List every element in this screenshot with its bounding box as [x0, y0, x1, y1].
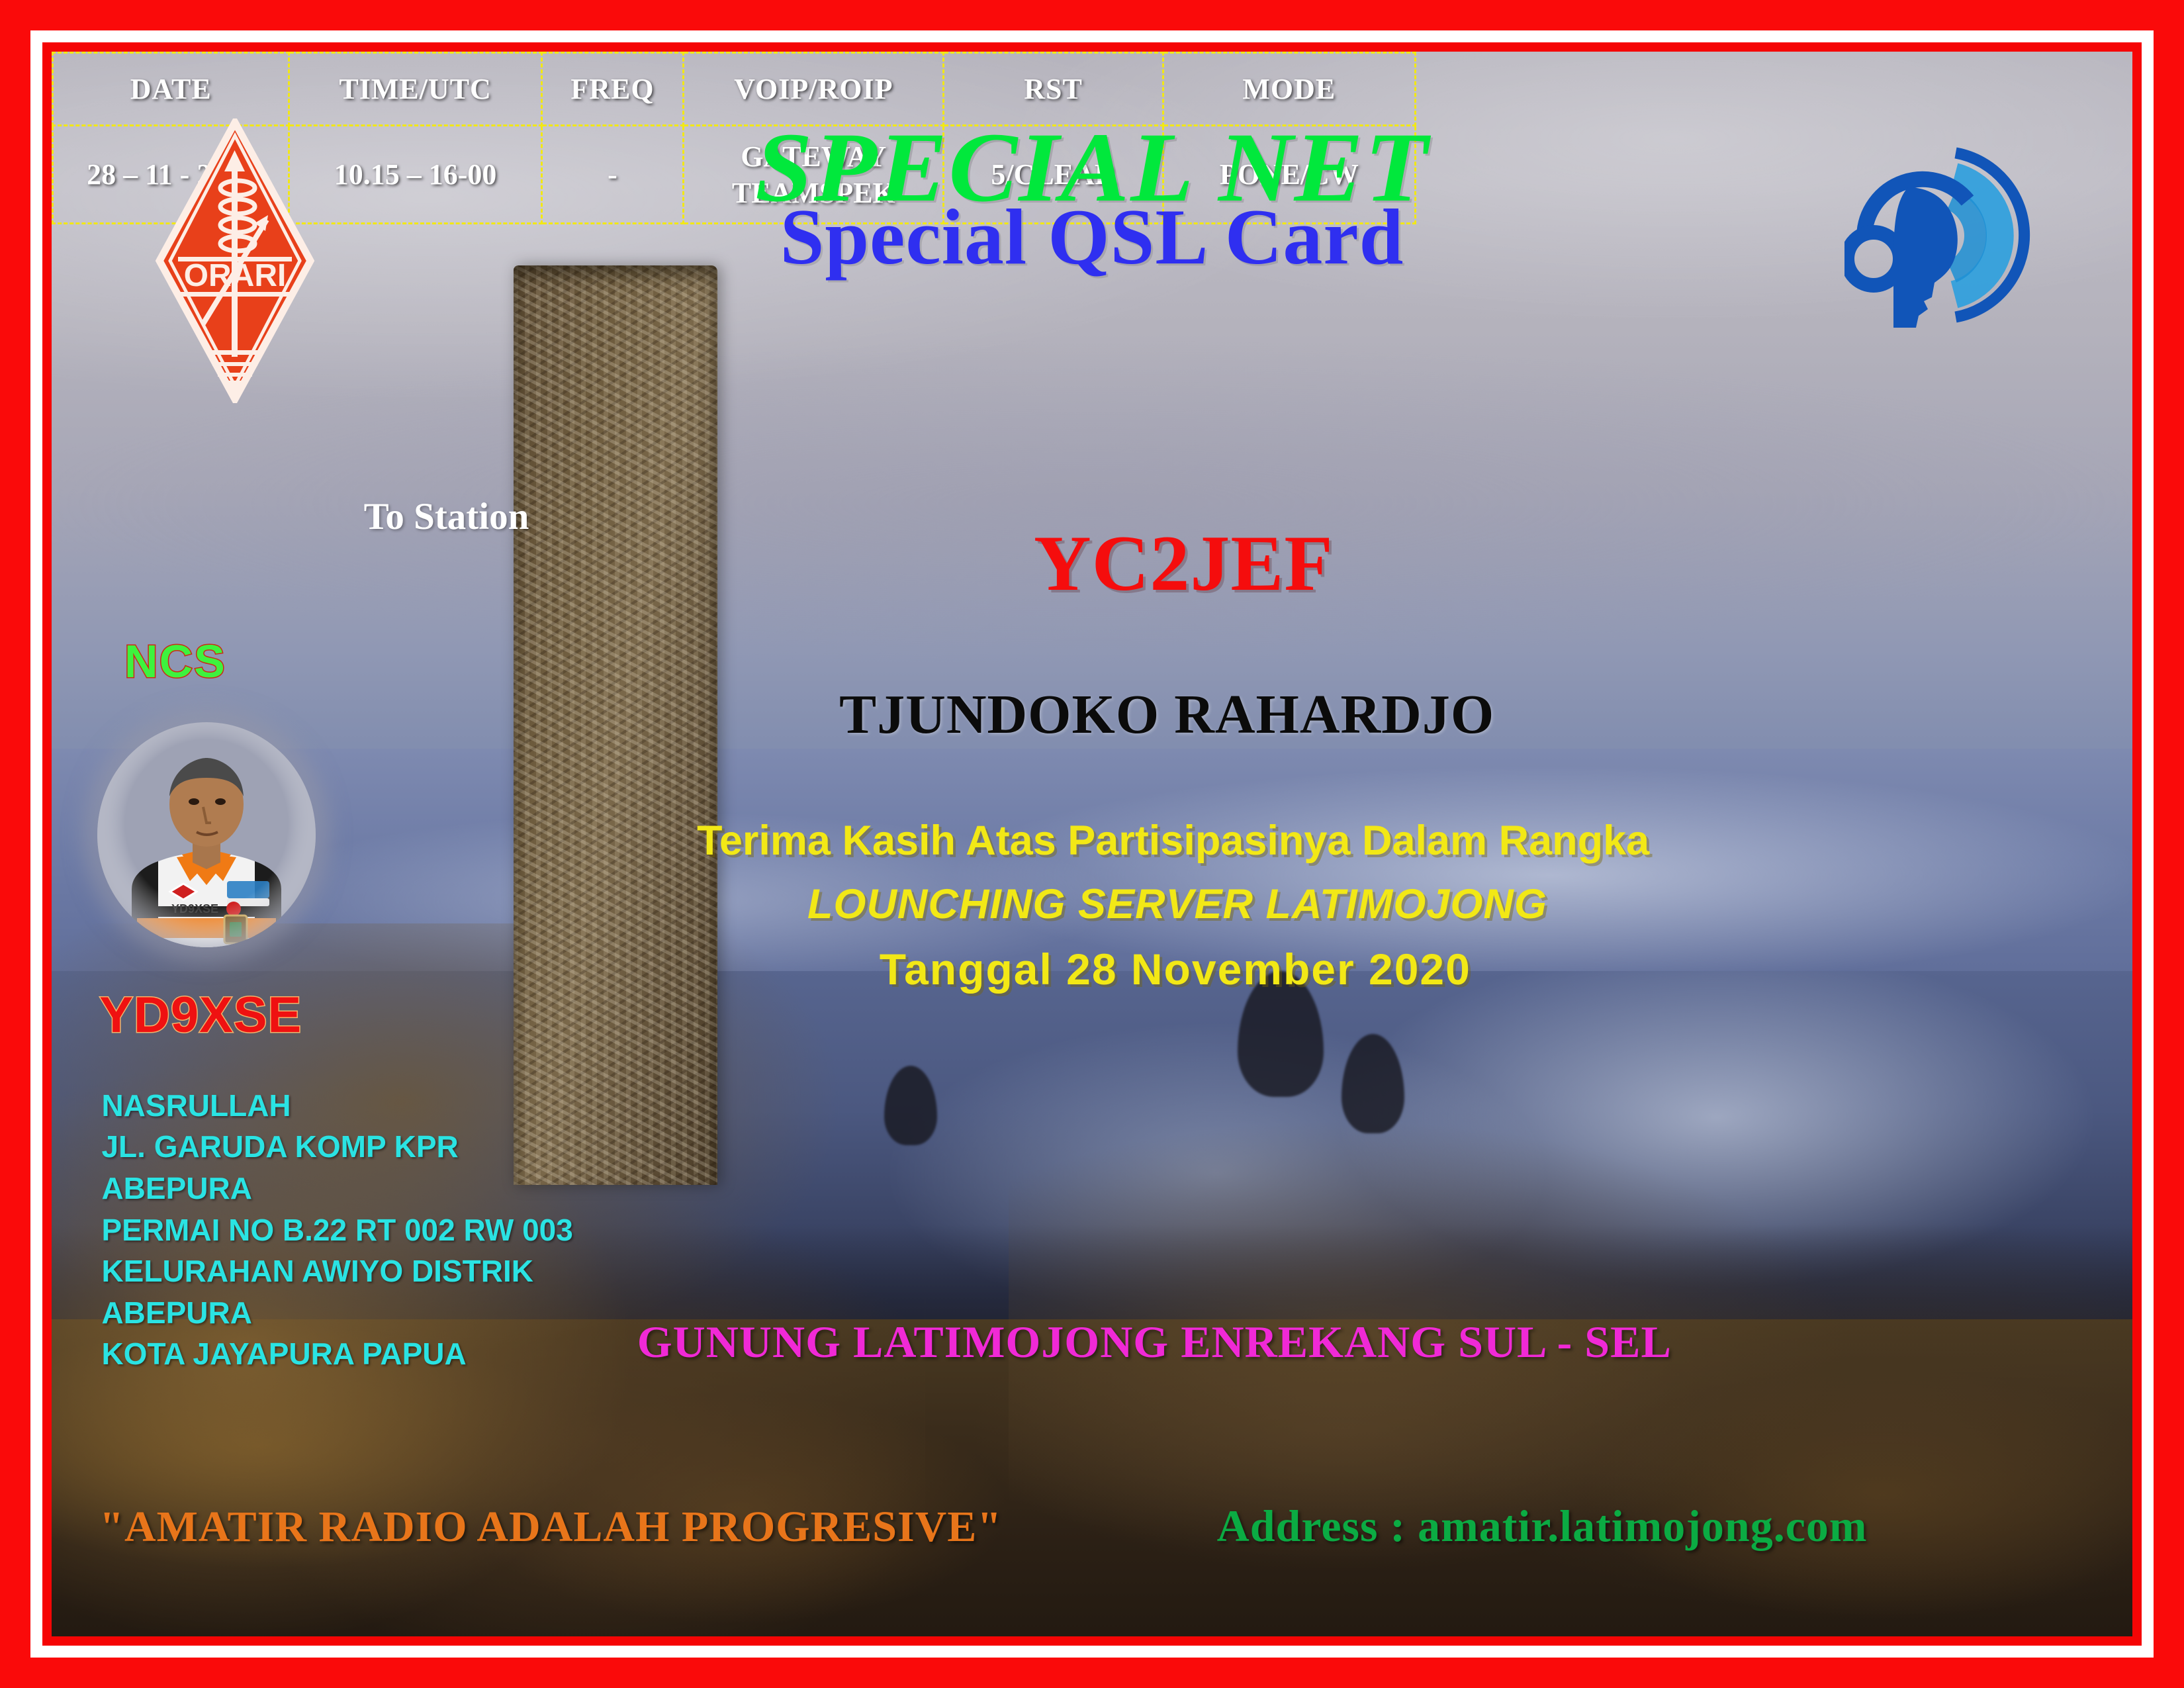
address-line: JL. GARUDA KOMP KPR	[101, 1126, 572, 1168]
operator-name: TJUNDOKO RAHARDJO	[52, 682, 2132, 747]
page-subtitle-qsl-card: Special QSL Card	[52, 191, 2132, 283]
slogan-text: "AMATIR RADIO ADALAH PROGRESIVE"	[99, 1502, 1002, 1552]
frame-white-gap: ORARI	[30, 30, 2154, 1658]
location-line: GUNUNG LATIMOJONG ENREKANG SUL - SEL	[52, 1316, 2132, 1368]
frame-inner-red-border: ORARI	[42, 42, 2142, 1646]
ncs-callsign: YD9XSE	[99, 986, 302, 1044]
thanks-message-line1: Terima Kasih Atas Partisipasinya Dalam R…	[52, 817, 2132, 865]
address-line: PERMAI NO B.22 RT 002 RW 003	[101, 1209, 572, 1251]
station-callsign: YC2JEF	[52, 518, 2132, 609]
web-address-text: Address : amatir.latimojong.com	[1217, 1500, 1868, 1552]
address-line: ABEPURA	[101, 1168, 572, 1209]
qsl-card-frame: ORARI	[0, 0, 2184, 1688]
operator-portrait-photo: YD9XSE	[97, 722, 316, 947]
background-photograph: ORARI	[52, 52, 2132, 1636]
address-line: KELURAHAN AWIYO DISTRIK	[101, 1250, 572, 1292]
event-name-line: LOUNCHING SERVER LATIMOJONG	[52, 880, 2132, 928]
card-content-overlay: ORARI	[52, 52, 2132, 1636]
ncs-label: NCS	[124, 635, 226, 688]
event-date-line: Tanggal 28 November 2020	[52, 944, 2132, 994]
address-line: NASRULLAH	[101, 1085, 572, 1127]
